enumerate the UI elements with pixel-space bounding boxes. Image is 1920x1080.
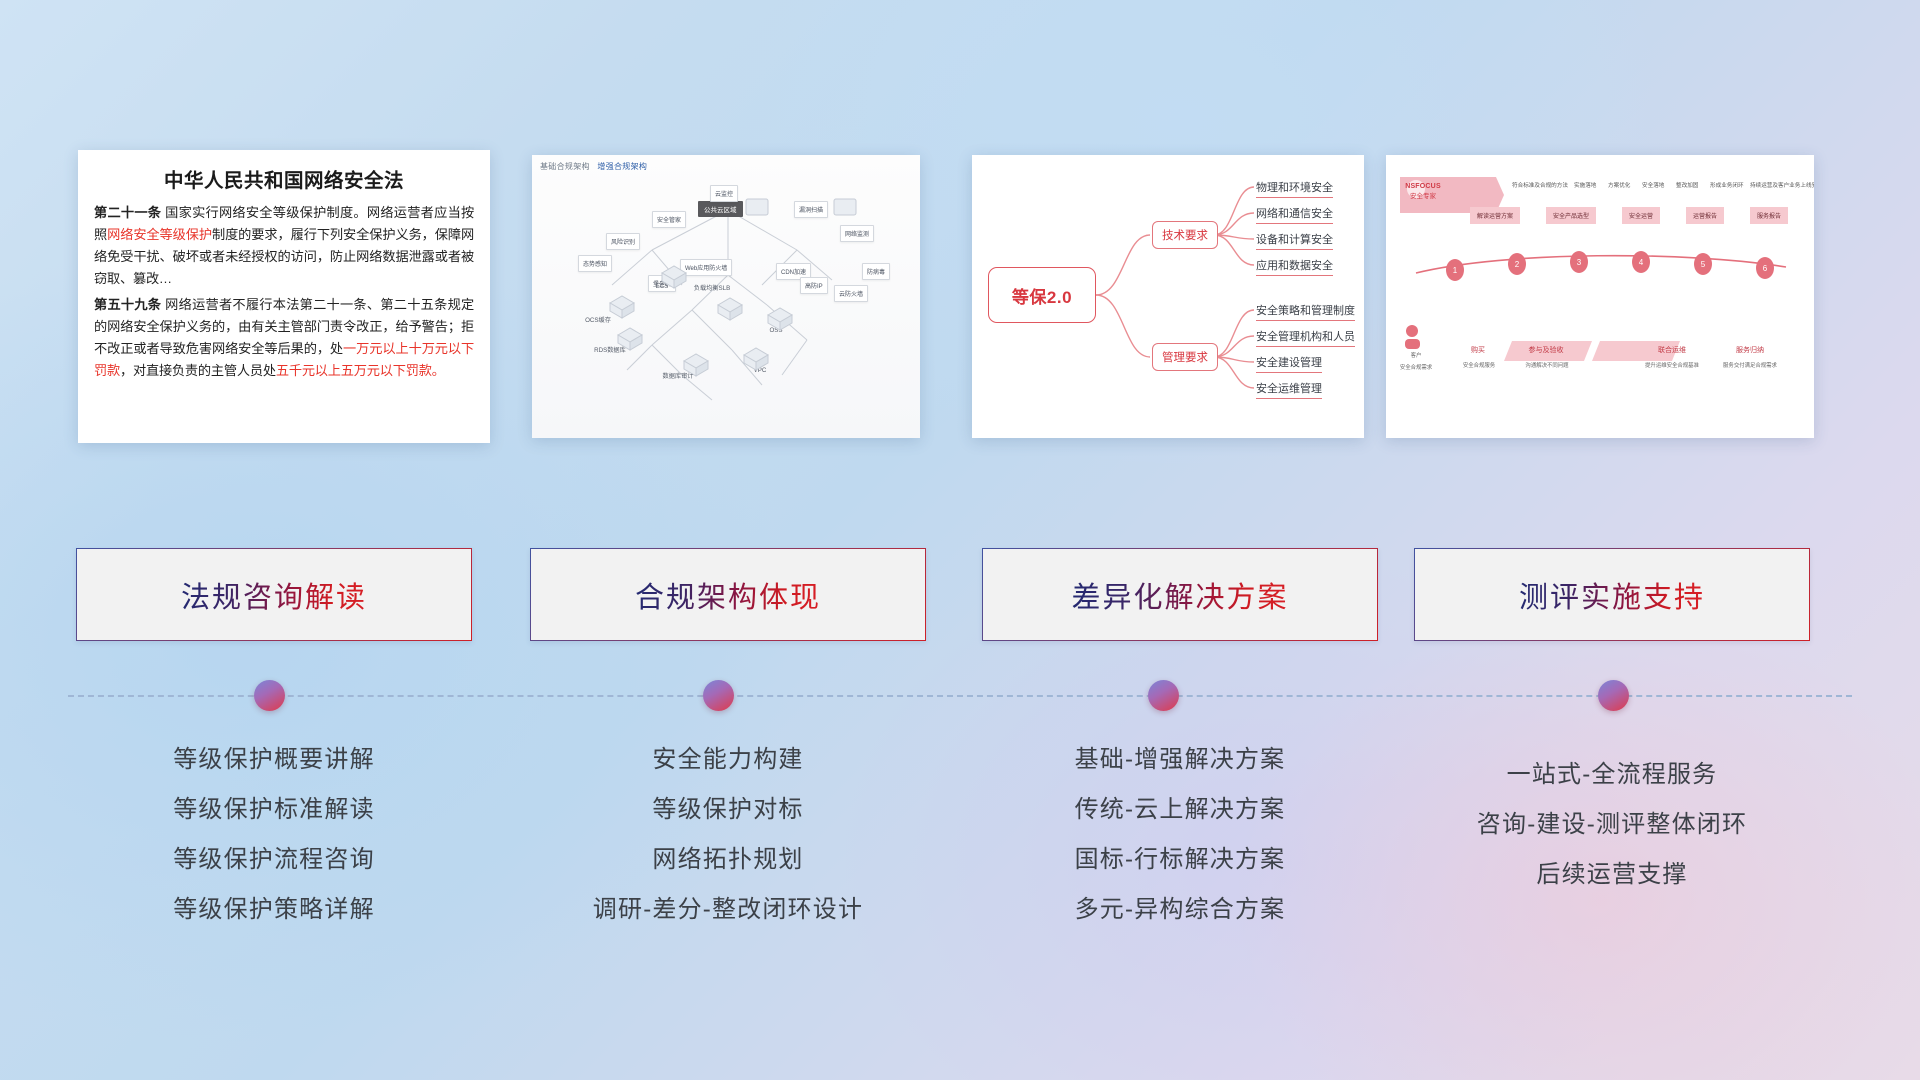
stage-label-row: 法规咨询解读 合规架构体现 差异化解决方案 测评实施支持 — [0, 548, 1920, 644]
illustration-card-row: 中华人民共和国网络安全法 第二十一条 国家实行网络安全等级保护制度。网络运营者应… — [0, 150, 1920, 450]
list-item: 等级保护概要讲解 — [76, 735, 472, 785]
nsfocus-bottom-sub-3: 提升运维安全合规基准 — [1630, 361, 1714, 369]
stage-detail-row: 等级保护概要讲解 等级保护标准解读 等级保护流程咨询 等级保护策略详解 安全能力… — [0, 735, 1920, 965]
timeline-dot-1[interactable] — [254, 680, 285, 711]
nsfocus-bottom-sub-1: 安全合规服务 — [1448, 361, 1510, 369]
stage-label-text-2: 合规架构体现 — [635, 574, 821, 616]
stage-detail-list-4: 一站式-全流程服务 咨询-建设-测评整体闭环 后续运营支撑 — [1414, 750, 1810, 900]
nsfocus-step-4: 4 — [1632, 251, 1650, 273]
law-run-1b-highlight: 网络安全等级保护 — [107, 227, 212, 242]
law-paragraph-2: 第五十九条 网络运营者不履行本法第二十一条、第二十五条规定的网络安全保护义务的，… — [94, 294, 474, 382]
nsfocus-brand: NSFOCUS — [1396, 183, 1450, 190]
mindmap-leaf-tech-1: 物理和环境安全 — [1256, 179, 1333, 198]
nsfocus-tag-6: 形成业务闭环 — [1710, 181, 1744, 189]
mindmap-leaf-mgmt-3: 安全建设管理 — [1256, 354, 1322, 373]
card-nsfocus-timeline[interactable]: NSFOCUS 安全专家 符合标准及合规的方法 实施落地 方案优化 安全落地 整… — [1386, 155, 1814, 438]
mindmap-leaf-tech-3: 设备和计算安全 — [1256, 231, 1333, 250]
stage-detail-list-1: 等级保护概要讲解 等级保护标准解读 等级保护流程咨询 等级保护策略详解 — [76, 735, 472, 935]
stage-detail-list-3: 基础-增强解决方案 传统-云上解决方案 国标-行标解决方案 多元-异构综合方案 — [982, 735, 1378, 935]
nsfocus-graphics — [1386, 155, 1814, 438]
nsfocus-step-5: 5 — [1694, 253, 1712, 275]
card-cloud-architecture[interactable]: 基础合规架构 增强合规架构 — [532, 155, 920, 438]
stage-label-box-3[interactable]: 差异化解决方案 — [982, 548, 1378, 641]
timeline-dashed-line — [68, 695, 1852, 697]
mindmap-leaf-tech-2: 网络和通信安全 — [1256, 205, 1333, 224]
list-item: 等级保护策略详解 — [76, 885, 472, 935]
nsfocus-bottom-sub-2: 沟通解决不同问题 — [1512, 361, 1582, 369]
law-title: 中华人民共和国网络安全法 — [94, 164, 474, 193]
list-item: 等级保护标准解读 — [76, 785, 472, 835]
timeline — [0, 650, 1920, 740]
mindmap-root-node: 等保2.0 — [988, 267, 1096, 323]
timeline-dot-2[interactable] — [703, 680, 734, 711]
nsfocus-bottom-label-4: 服务归纳 — [1726, 345, 1774, 355]
card-mind-map[interactable]: 等保2.0 技术要求 管理要求 物理和环境安全 网络和通信安全 设备和计算安全 … — [972, 155, 1364, 438]
mindmap-branch-management: 管理要求 — [1152, 343, 1218, 371]
nsfocus-step-2: 2 — [1508, 253, 1526, 275]
list-item: 国标-行标解决方案 — [982, 835, 1378, 885]
nsfocus-ribbon-1: 解读运营方案 — [1470, 207, 1520, 224]
timeline-dot-3[interactable] — [1148, 680, 1179, 711]
nsfocus-ribbon-4: 运营报告 — [1686, 207, 1724, 224]
stage-label-text-3: 差异化解决方案 — [1071, 574, 1288, 616]
nsfocus-bottom-label-2: 参与及验收 — [1518, 345, 1574, 355]
nsfocus-bottom-sub-4: 服务交付满足合规需求 — [1708, 361, 1792, 369]
list-item: 网络拓扑规划 — [530, 835, 926, 885]
mindmap-leaf-mgmt-2: 安全管理机构和人员 — [1256, 328, 1355, 347]
nsfocus-service-timeline: NSFOCUS 安全专家 符合标准及合规的方法 实施落地 方案优化 安全落地 整… — [1386, 155, 1814, 438]
nsfocus-customer: 客户 — [1394, 351, 1438, 359]
stage-label-box-4[interactable]: 测评实施支持 — [1414, 548, 1810, 641]
nsfocus-step-3: 3 — [1570, 251, 1588, 273]
law-document-body: 中华人民共和国网络安全法 第二十一条 国家实行网络安全等级保护制度。网络运营者应… — [78, 150, 490, 390]
stage-label-box-2[interactable]: 合规架构体现 — [530, 548, 926, 641]
mindmap-branch-technical: 技术要求 — [1152, 221, 1218, 249]
law-paragraph-1: 第二十一条 国家实行网络安全等级保护制度。网络运营者应当按照网络安全等级保护制度… — [94, 202, 474, 290]
list-item: 传统-云上解决方案 — [982, 785, 1378, 835]
law-article-number-1: 第二十一条 — [94, 205, 161, 220]
nsfocus-bottom-label-1: 购买 — [1458, 345, 1498, 355]
nsfocus-tag-4: 安全落地 — [1642, 181, 1664, 189]
list-item: 等级保护对标 — [530, 785, 926, 835]
nsfocus-ribbon-3: 安全运营 — [1622, 207, 1660, 224]
nsfocus-ribbon-5: 服务报告 — [1750, 207, 1788, 224]
mindmap-leaf-tech-4: 应用和数据安全 — [1256, 257, 1333, 276]
mindmap-leaf-mgmt-4: 安全运维管理 — [1256, 380, 1322, 399]
nsfocus-tag-7: 持续运营及客户业务上线安全合规保障 — [1750, 181, 1814, 189]
page-canvas: 中华人民共和国网络安全法 第二十一条 国家实行网络安全等级保护制度。网络运营者应… — [0, 0, 1920, 1080]
mind-map-dengbao: 等保2.0 技术要求 管理要求 物理和环境安全 网络和通信安全 设备和计算安全 … — [972, 155, 1364, 438]
list-item: 安全能力构建 — [530, 735, 926, 785]
list-item: 咨询-建设-测评整体闭环 — [1414, 800, 1810, 850]
arch-node-glyphs — [532, 155, 920, 438]
nsfocus-tag-2: 实施落地 — [1574, 181, 1596, 189]
nsfocus-customer-sub: 安全合规需求 — [1388, 363, 1444, 371]
law-run-2d-highlight: 五千元以上五万元以下罚款。 — [276, 363, 445, 378]
mindmap-leaf-mgmt-1: 安全策略和管理制度 — [1256, 302, 1355, 321]
list-item: 后续运营支撑 — [1414, 850, 1810, 900]
list-item: 一站式-全流程服务 — [1414, 750, 1810, 800]
law-run-2c: ，对直接负责的主管人员处 — [120, 363, 276, 378]
nsfocus-tag-1: 符合标准及合规的方法 — [1512, 181, 1568, 189]
nsfocus-tag-5: 整改加固 — [1676, 181, 1698, 189]
nsfocus-bottom-label-3: 联合运维 — [1648, 345, 1696, 355]
list-item: 多元-异构综合方案 — [982, 885, 1378, 935]
nsfocus-step-1: 1 — [1446, 259, 1464, 281]
nsfocus-logo: NSFOCUS 安全专家 — [1396, 183, 1450, 200]
cloud-architecture-diagram: 基础合规架构 增强合规架构 — [532, 155, 920, 438]
nsfocus-brand-sub: 安全专家 — [1396, 190, 1450, 200]
nsfocus-ribbon-2: 安全产品选型 — [1546, 207, 1596, 224]
nsfocus-tag-3: 方案优化 — [1608, 181, 1630, 189]
list-item: 等级保护流程咨询 — [76, 835, 472, 885]
stage-label-text-1: 法规咨询解读 — [181, 574, 367, 616]
timeline-dot-4[interactable] — [1598, 680, 1629, 711]
law-article-number-2: 第五十九条 — [94, 297, 161, 312]
card-law-document[interactable]: 中华人民共和国网络安全法 第二十一条 国家实行网络安全等级保护制度。网络运营者应… — [78, 150, 490, 443]
stage-label-box-1[interactable]: 法规咨询解读 — [76, 548, 472, 641]
stage-label-text-4: 测评实施支持 — [1519, 574, 1705, 616]
list-item: 基础-增强解决方案 — [982, 735, 1378, 785]
stage-detail-list-2: 安全能力构建 等级保护对标 网络拓扑规划 调研-差分-整改闭环设计 — [530, 735, 926, 935]
list-item: 调研-差分-整改闭环设计 — [530, 885, 926, 935]
nsfocus-step-6: 6 — [1756, 257, 1774, 279]
